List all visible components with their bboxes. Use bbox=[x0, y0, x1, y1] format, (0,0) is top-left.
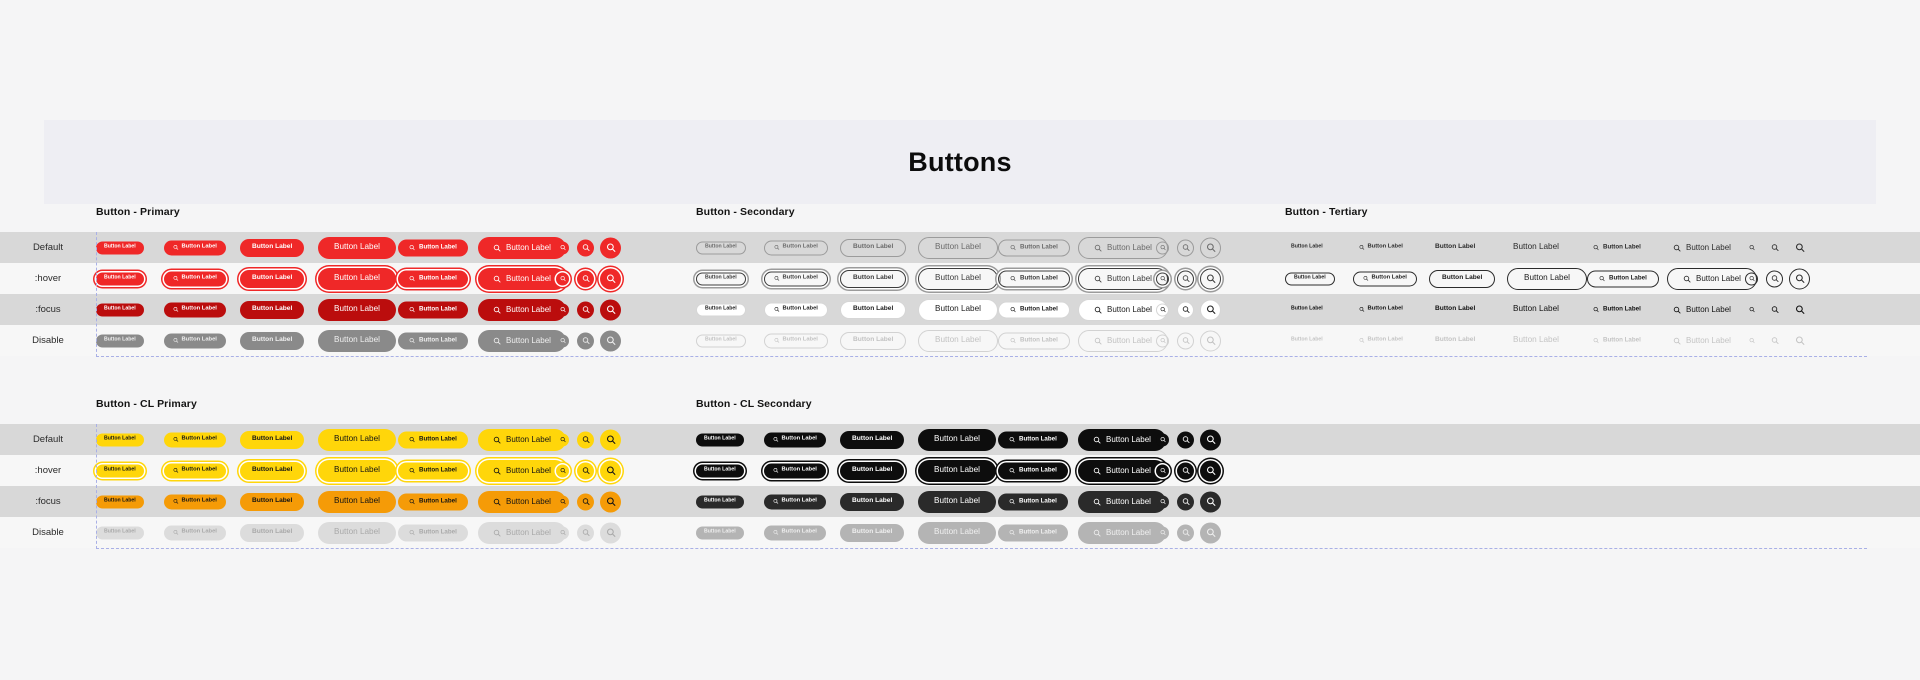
button-cl-primary-focus-label-button[interactable]: Button Label bbox=[240, 493, 304, 511]
button-tertiary-focus-icon-button[interactable] bbox=[1745, 303, 1758, 316]
button-cl-secondary-default-label-button[interactable]: Button Label bbox=[840, 431, 904, 449]
button-tertiary-focus-icon-label-button[interactable]: Button Label bbox=[1667, 299, 1737, 321]
button-tertiary-hover-icon-label-button[interactable]: Button Label bbox=[1353, 271, 1417, 286]
button-cl-primary-hover-icon-button[interactable] bbox=[600, 460, 621, 481]
button-tertiary-disable-label-button[interactable]: Button Label bbox=[1285, 334, 1329, 347]
button-label: Button Label bbox=[334, 497, 380, 505]
search-icon bbox=[409, 245, 415, 251]
search-icon bbox=[493, 244, 501, 252]
section-group-top: Button - PrimaryButton - SecondaryButton… bbox=[0, 206, 1920, 356]
button-primary-disable-icon-label-button[interactable]: Button Label bbox=[398, 332, 468, 349]
button-label: Button Label bbox=[704, 437, 736, 442]
button-primary-default-label-button[interactable]: Button Label bbox=[318, 237, 396, 259]
button-secondary-hover-icon-button[interactable] bbox=[1156, 272, 1169, 285]
button-cl-primary-disable-label-button[interactable]: Button Label bbox=[96, 526, 144, 539]
search-icon bbox=[1093, 529, 1101, 537]
button-secondary-focus-icon-label-button[interactable]: Button Label bbox=[764, 302, 828, 317]
button-tertiary-focus-icon-label-button[interactable]: Button Label bbox=[1587, 301, 1647, 318]
button-primary-focus-icon-button[interactable] bbox=[577, 301, 594, 318]
button-cl-secondary-hover-label-button[interactable]: Button Label bbox=[918, 460, 996, 482]
button-primary-default-label-button[interactable]: Button Label bbox=[96, 241, 144, 254]
button-secondary-hover-icon-button[interactable] bbox=[1200, 268, 1221, 289]
button-secondary-hover-icon-label-button[interactable]: Button Label bbox=[998, 270, 1070, 287]
button-label: Button Label bbox=[1291, 338, 1323, 343]
button-cl-primary-disable-icon-button[interactable] bbox=[577, 524, 594, 541]
search-icon bbox=[560, 307, 566, 313]
button-tertiary-default-label-button[interactable]: Button Label bbox=[1429, 239, 1481, 257]
button-cl-primary-focus-label-button[interactable]: Button Label bbox=[96, 495, 144, 508]
button-label: Button Label bbox=[704, 530, 736, 535]
button-cl-secondary-focus-icon-label-button[interactable]: Button Label bbox=[1078, 491, 1166, 513]
button-primary-hover-icon-button[interactable] bbox=[600, 268, 621, 289]
button-cl-primary-default-icon-button[interactable] bbox=[600, 429, 621, 450]
search-icon bbox=[493, 529, 501, 537]
search-icon bbox=[1206, 497, 1216, 507]
button-tertiary-focus-label-button[interactable]: Button Label bbox=[1429, 301, 1481, 319]
search-icon bbox=[1795, 274, 1805, 284]
search-icon bbox=[1094, 306, 1102, 314]
button-label: Button Label bbox=[782, 530, 817, 536]
button-secondary-hover-icon-label-button[interactable]: Button Label bbox=[764, 271, 828, 286]
button-cl-secondary-default-icon-label-button[interactable]: Button Label bbox=[1078, 429, 1166, 451]
button-label: Button Label bbox=[1106, 529, 1151, 537]
button-secondary-disable-icon-button[interactable] bbox=[1177, 332, 1194, 349]
button-tertiary-hover-icon-button[interactable] bbox=[1745, 272, 1758, 285]
search-icon bbox=[1795, 243, 1805, 253]
button-cl-primary-hover-icon-label-button[interactable]: Button Label bbox=[478, 460, 566, 482]
button-cl-secondary-disable-label-button[interactable]: Button Label bbox=[840, 524, 904, 542]
button-label: Button Label bbox=[182, 530, 217, 536]
button-tertiary-disable-icon-button[interactable] bbox=[1766, 332, 1783, 349]
button-secondary-default-label-button[interactable]: Button Label bbox=[840, 239, 906, 257]
button-secondary-disable-icon-button[interactable] bbox=[1200, 330, 1221, 351]
button-primary-hover-icon-button[interactable] bbox=[577, 270, 594, 287]
button-label: Button Label bbox=[419, 436, 457, 442]
button-cl-secondary-default-label-button[interactable]: Button Label bbox=[696, 433, 744, 446]
search-icon bbox=[1593, 338, 1599, 344]
search-icon bbox=[173, 245, 179, 251]
search-icon bbox=[1009, 499, 1015, 505]
button-tertiary-disable-icon-button[interactable] bbox=[1789, 330, 1810, 351]
button-label: Button Label bbox=[1513, 305, 1559, 313]
page-title: Buttons bbox=[908, 147, 1011, 178]
button-cl-primary-disable-icon-button[interactable] bbox=[600, 522, 621, 543]
button-label: Button Label bbox=[1435, 306, 1475, 313]
button-tertiary-focus-icon-button[interactable] bbox=[1789, 299, 1810, 320]
button-primary-focus-icon-label-button[interactable]: Button Label bbox=[398, 301, 468, 318]
button-tertiary-hover-label-button[interactable]: Button Label bbox=[1429, 270, 1495, 288]
button-label: Button Label bbox=[334, 305, 380, 313]
button-cl-secondary-hover-icon-label-button[interactable]: Button Label bbox=[1078, 460, 1166, 482]
button-primary-disable-label-button[interactable]: Button Label bbox=[96, 334, 144, 347]
button-cl-secondary-hover-icon-button[interactable] bbox=[1156, 464, 1169, 477]
button-label: Button Label bbox=[1107, 337, 1152, 345]
button-cl-primary-disable-label-button[interactable]: Button Label bbox=[318, 522, 396, 544]
search-icon bbox=[1771, 306, 1779, 314]
button-label: Button Label bbox=[783, 307, 818, 313]
button-cl-secondary-focus-label-button[interactable]: Button Label bbox=[840, 493, 904, 511]
button-label: Button Label bbox=[1686, 306, 1731, 314]
section-heading-button-secondary: Button - Secondary bbox=[696, 206, 795, 218]
button-label: Button Label bbox=[853, 337, 893, 344]
button-tertiary-focus-icon-label-button[interactable]: Button Label bbox=[1353, 302, 1409, 317]
state-row-hover: :hoverButton LabelButton LabelButton Lab… bbox=[0, 263, 1920, 294]
button-primary-disable-icon-label-button[interactable]: Button Label bbox=[478, 330, 566, 352]
section-group-bottom: Button - CL PrimaryButton - CL Secondary… bbox=[0, 398, 1920, 548]
button-tertiary-disable-icon-label-button[interactable]: Button Label bbox=[1667, 330, 1737, 352]
button-label: Button Label bbox=[1603, 244, 1641, 250]
button-cl-secondary-focus-icon-button[interactable] bbox=[1200, 491, 1221, 512]
button-cl-primary-default-icon-button[interactable] bbox=[577, 431, 594, 448]
button-cl-primary-focus-icon-button[interactable] bbox=[577, 493, 594, 510]
button-cl-secondary-focus-icon-button[interactable] bbox=[1177, 493, 1194, 510]
state-row-label: Default bbox=[0, 424, 96, 455]
search-icon bbox=[409, 499, 415, 505]
button-cl-primary-hover-label-button[interactable]: Button Label bbox=[96, 464, 144, 477]
search-icon bbox=[409, 468, 415, 474]
button-cl-secondary-focus-label-button[interactable]: Button Label bbox=[696, 495, 744, 508]
search-icon bbox=[1182, 337, 1190, 345]
search-icon bbox=[582, 244, 590, 252]
search-icon bbox=[493, 467, 501, 475]
button-label: Button Label bbox=[252, 244, 292, 251]
button-secondary-disable-icon-label-button[interactable]: Button Label bbox=[998, 332, 1070, 349]
button-tertiary-focus-label-button[interactable]: Button Label bbox=[1507, 299, 1565, 321]
button-tertiary-disable-label-button[interactable]: Button Label bbox=[1507, 330, 1565, 352]
search-icon bbox=[1673, 337, 1681, 345]
button-label: Button Label bbox=[1020, 244, 1058, 250]
button-cl-primary-hover-label-button[interactable]: Button Label bbox=[318, 460, 396, 482]
button-label: Button Label bbox=[1291, 307, 1323, 312]
button-label: Button Label bbox=[1106, 467, 1151, 475]
button-cl-secondary-hover-label-button[interactable]: Button Label bbox=[696, 464, 744, 477]
button-secondary-default-icon-button[interactable] bbox=[1177, 239, 1194, 256]
button-primary-focus-icon-button[interactable] bbox=[556, 303, 569, 316]
button-cl-primary-hover-icon-button[interactable] bbox=[577, 462, 594, 479]
button-tertiary-default-icon-button[interactable] bbox=[1745, 241, 1758, 254]
button-primary-focus-label-button[interactable]: Button Label bbox=[96, 303, 144, 316]
button-cl-primary-hover-icon-label-button[interactable]: Button Label bbox=[164, 463, 226, 478]
button-primary-focus-icon-button[interactable] bbox=[600, 299, 621, 320]
button-cl-primary-focus-icon-label-button[interactable]: Button Label bbox=[164, 494, 226, 509]
button-cl-secondary-disable-icon-button[interactable] bbox=[1200, 522, 1221, 543]
search-icon bbox=[1599, 276, 1605, 282]
button-tertiary-default-icon-button[interactable] bbox=[1766, 239, 1783, 256]
button-label: Button Label bbox=[419, 306, 457, 312]
button-primary-hover-label-button[interactable]: Button Label bbox=[318, 268, 396, 290]
button-cl-secondary-focus-icon-label-button[interactable]: Button Label bbox=[998, 493, 1068, 510]
search-icon bbox=[1749, 307, 1755, 313]
button-tertiary-hover-icon-label-button[interactable]: Button Label bbox=[1587, 270, 1659, 287]
state-row-label: :hover bbox=[0, 455, 96, 486]
search-icon bbox=[1771, 244, 1779, 252]
button-cl-primary-disable-label-button[interactable]: Button Label bbox=[240, 524, 304, 542]
button-label: Button Label bbox=[419, 275, 457, 281]
button-secondary-disable-icon-label-button[interactable]: Button Label bbox=[1078, 330, 1168, 352]
button-secondary-focus-label-button[interactable]: Button Label bbox=[696, 303, 746, 316]
search-icon bbox=[560, 276, 566, 282]
button-label: Button Label bbox=[506, 436, 551, 444]
button-cl-secondary-disable-icon-button[interactable] bbox=[1177, 524, 1194, 541]
button-primary-default-icon-button[interactable] bbox=[600, 237, 621, 258]
search-icon bbox=[1182, 436, 1190, 444]
search-icon bbox=[606, 466, 616, 476]
button-secondary-focus-icon-button[interactable] bbox=[1177, 301, 1194, 318]
button-label: Button Label bbox=[252, 436, 292, 443]
button-tertiary-hover-label-button[interactable]: Button Label bbox=[1507, 268, 1587, 290]
button-cl-secondary-disable-label-button[interactable]: Button Label bbox=[696, 526, 744, 539]
button-tertiary-disable-icon-button[interactable] bbox=[1745, 334, 1758, 347]
button-label: Button Label bbox=[252, 275, 292, 282]
button-cl-secondary-default-icon-label-button[interactable]: Button Label bbox=[764, 432, 826, 447]
button-primary-disable-icon-button[interactable] bbox=[600, 330, 621, 351]
button-secondary-focus-icon-button[interactable] bbox=[1200, 299, 1221, 320]
search-icon bbox=[1182, 244, 1190, 252]
button-label: Button Label bbox=[1686, 244, 1731, 252]
button-primary-default-icon-button[interactable] bbox=[556, 241, 569, 254]
button-primary-default-label-button[interactable]: Button Label bbox=[240, 239, 304, 257]
button-secondary-focus-icon-label-button[interactable]: Button Label bbox=[1078, 299, 1168, 321]
button-tertiary-hover-label-button[interactable]: Button Label bbox=[1285, 272, 1335, 285]
search-icon bbox=[1206, 305, 1216, 315]
button-primary-hover-icon-button[interactable] bbox=[556, 272, 569, 285]
button-label: Button Label bbox=[506, 467, 551, 475]
button-cl-primary-default-icon-label-button[interactable]: Button Label bbox=[398, 431, 468, 448]
button-primary-default-icon-label-button[interactable]: Button Label bbox=[164, 240, 226, 255]
button-cl-secondary-default-icon-button[interactable] bbox=[1177, 431, 1194, 448]
button-cl-primary-default-label-button[interactable]: Button Label bbox=[96, 433, 144, 446]
button-label: Button Label bbox=[252, 498, 292, 505]
button-primary-hover-label-button[interactable]: Button Label bbox=[96, 272, 144, 285]
button-secondary-default-label-button[interactable]: Button Label bbox=[696, 241, 746, 254]
search-icon bbox=[493, 306, 501, 314]
search-icon bbox=[173, 276, 179, 282]
button-label: Button Label bbox=[782, 499, 817, 505]
search-icon bbox=[606, 528, 616, 538]
search-icon bbox=[560, 499, 566, 505]
button-tertiary-default-icon-label-button[interactable]: Button Label bbox=[1587, 239, 1647, 256]
search-icon bbox=[774, 245, 780, 251]
button-secondary-disable-label-button[interactable]: Button Label bbox=[840, 332, 906, 350]
search-icon bbox=[582, 498, 590, 506]
button-cl-primary-focus-icon-button[interactable] bbox=[600, 491, 621, 512]
search-icon bbox=[560, 245, 566, 251]
button-tertiary-disable-icon-label-button[interactable]: Button Label bbox=[1353, 333, 1409, 348]
button-tertiary-default-label-button[interactable]: Button Label bbox=[1285, 241, 1329, 254]
button-primary-hover-label-button[interactable]: Button Label bbox=[240, 270, 304, 288]
button-secondary-focus-label-button[interactable]: Button Label bbox=[840, 301, 906, 319]
button-tertiary-focus-label-button[interactable]: Button Label bbox=[1285, 303, 1329, 316]
button-primary-focus-icon-label-button[interactable]: Button Label bbox=[478, 299, 566, 321]
button-label: Button Label bbox=[182, 437, 217, 443]
button-secondary-default-icon-button[interactable] bbox=[1200, 237, 1221, 258]
state-row-label: :focus bbox=[0, 486, 96, 517]
button-primary-hover-icon-label-button[interactable]: Button Label bbox=[478, 268, 566, 290]
button-secondary-hover-icon-label-button[interactable]: Button Label bbox=[1078, 268, 1168, 290]
button-primary-focus-label-button[interactable]: Button Label bbox=[240, 301, 304, 319]
search-icon bbox=[173, 307, 179, 313]
search-icon bbox=[582, 529, 590, 537]
button-cl-secondary-focus-icon-button[interactable] bbox=[1156, 495, 1169, 508]
button-secondary-focus-icon-button[interactable] bbox=[1156, 303, 1169, 316]
button-tertiary-hover-icon-button[interactable] bbox=[1766, 270, 1783, 287]
button-secondary-default-icon-label-button[interactable]: Button Label bbox=[764, 240, 828, 255]
button-label: Button Label bbox=[506, 244, 551, 252]
button-cl-secondary-hover-icon-button[interactable] bbox=[1200, 460, 1221, 481]
search-icon bbox=[1093, 467, 1101, 475]
button-primary-hover-icon-label-button[interactable]: Button Label bbox=[398, 270, 468, 287]
button-primary-disable-label-button[interactable]: Button Label bbox=[318, 330, 396, 352]
button-label: Button Label bbox=[935, 243, 981, 251]
button-secondary-hover-icon-button[interactable] bbox=[1177, 270, 1194, 287]
search-icon bbox=[774, 338, 780, 344]
button-secondary-disable-icon-label-button[interactable]: Button Label bbox=[764, 333, 828, 348]
button-cl-secondary-default-label-button[interactable]: Button Label bbox=[918, 429, 996, 451]
button-tertiary-hover-icon-button[interactable] bbox=[1789, 268, 1810, 289]
button-label: Button Label bbox=[1686, 337, 1731, 345]
button-cl-secondary-hover-icon-button[interactable] bbox=[1177, 462, 1194, 479]
button-cl-primary-disable-icon-label-button[interactable]: Button Label bbox=[478, 522, 566, 544]
button-primary-focus-label-button[interactable]: Button Label bbox=[318, 299, 396, 321]
button-primary-disable-icon-button[interactable] bbox=[556, 334, 569, 347]
search-icon bbox=[1160, 468, 1166, 474]
button-cl-primary-default-label-button[interactable]: Button Label bbox=[240, 431, 304, 449]
search-icon bbox=[493, 498, 501, 506]
button-cl-secondary-hover-label-button[interactable]: Button Label bbox=[840, 462, 904, 480]
search-icon bbox=[1160, 245, 1166, 251]
button-secondary-default-icon-button[interactable] bbox=[1156, 241, 1169, 254]
button-cl-primary-focus-icon-label-button[interactable]: Button Label bbox=[398, 493, 468, 510]
search-icon bbox=[606, 336, 616, 346]
button-label: Button Label bbox=[334, 466, 380, 474]
button-cl-primary-focus-label-button[interactable]: Button Label bbox=[318, 491, 396, 513]
search-icon bbox=[560, 468, 566, 474]
search-icon bbox=[409, 437, 415, 443]
button-cl-secondary-disable-icon-label-button[interactable]: Button Label bbox=[1078, 522, 1166, 544]
button-cl-primary-disable-icon-button[interactable] bbox=[556, 526, 569, 539]
button-tertiary-hover-icon-label-button[interactable]: Button Label bbox=[1667, 268, 1757, 290]
search-icon bbox=[774, 276, 780, 282]
button-cl-secondary-disable-icon-label-button[interactable]: Button Label bbox=[998, 524, 1068, 541]
button-tertiary-default-icon-label-button[interactable]: Button Label bbox=[1353, 240, 1409, 255]
search-icon bbox=[1160, 276, 1166, 282]
button-label: Button Label bbox=[334, 274, 380, 282]
button-tertiary-default-icon-label-button[interactable]: Button Label bbox=[1667, 237, 1737, 259]
button-secondary-hover-label-button[interactable]: Button Label bbox=[840, 270, 906, 288]
button-cl-secondary-default-icon-button[interactable] bbox=[1156, 433, 1169, 446]
button-secondary-default-icon-label-button[interactable]: Button Label bbox=[1078, 237, 1168, 259]
button-tertiary-disable-icon-label-button[interactable]: Button Label bbox=[1587, 332, 1647, 349]
button-cl-secondary-disable-icon-button[interactable] bbox=[1156, 526, 1169, 539]
button-label: Button Label bbox=[104, 307, 136, 312]
search-icon bbox=[606, 243, 616, 253]
button-label: Button Label bbox=[934, 528, 980, 536]
button-tertiary-default-icon-button[interactable] bbox=[1789, 237, 1810, 258]
button-label: Button Label bbox=[419, 467, 457, 473]
button-cl-primary-focus-icon-button[interactable] bbox=[556, 495, 569, 508]
search-icon bbox=[1010, 307, 1016, 313]
button-cl-primary-disable-icon-label-button[interactable]: Button Label bbox=[164, 525, 226, 540]
button-tertiary-default-label-button[interactable]: Button Label bbox=[1507, 237, 1565, 259]
button-secondary-focus-label-button[interactable]: Button Label bbox=[918, 299, 998, 321]
section-headings-bottom: Button - CL PrimaryButton - CL Secondary bbox=[0, 398, 1920, 424]
search-icon bbox=[1010, 338, 1016, 344]
search-icon bbox=[409, 530, 415, 536]
button-label: Button Label bbox=[705, 307, 737, 312]
search-icon bbox=[1683, 275, 1691, 283]
button-cl-secondary-focus-icon-label-button[interactable]: Button Label bbox=[764, 494, 826, 509]
button-primary-hover-icon-label-button[interactable]: Button Label bbox=[164, 271, 226, 286]
button-label: Button Label bbox=[334, 528, 380, 536]
search-icon bbox=[1160, 307, 1166, 313]
button-label: Button Label bbox=[104, 530, 136, 535]
button-secondary-disable-label-button[interactable]: Button Label bbox=[918, 330, 998, 352]
button-tertiary-disable-label-button[interactable]: Button Label bbox=[1429, 332, 1481, 350]
search-icon bbox=[1182, 498, 1190, 506]
search-icon bbox=[173, 468, 179, 474]
search-icon bbox=[1093, 498, 1101, 506]
button-cl-secondary-focus-label-button[interactable]: Button Label bbox=[918, 491, 996, 513]
button-secondary-hover-label-button[interactable]: Button Label bbox=[696, 272, 746, 285]
button-secondary-disable-icon-button[interactable] bbox=[1156, 334, 1169, 347]
button-label: Button Label bbox=[1372, 276, 1407, 282]
search-icon bbox=[1363, 276, 1369, 282]
button-secondary-hover-label-button[interactable]: Button Label bbox=[918, 268, 998, 290]
search-icon bbox=[582, 306, 590, 314]
button-secondary-disable-label-button[interactable]: Button Label bbox=[696, 334, 746, 347]
state-rows-top: DefaultButton LabelButton LabelButton La… bbox=[0, 232, 1920, 356]
button-primary-disable-icon-button[interactable] bbox=[577, 332, 594, 349]
button-cl-primary-default-icon-label-button[interactable]: Button Label bbox=[478, 429, 566, 451]
button-label: Button Label bbox=[1020, 275, 1058, 281]
button-cl-secondary-disable-label-button[interactable]: Button Label bbox=[918, 522, 996, 544]
button-cl-secondary-default-icon-label-button[interactable]: Button Label bbox=[998, 431, 1068, 448]
search-icon bbox=[560, 437, 566, 443]
button-tertiary-focus-icon-button[interactable] bbox=[1766, 301, 1783, 318]
button-cl-secondary-disable-icon-label-button[interactable]: Button Label bbox=[764, 525, 826, 540]
button-cl-primary-default-icon-label-button[interactable]: Button Label bbox=[164, 432, 226, 447]
button-secondary-default-label-button[interactable]: Button Label bbox=[918, 237, 998, 259]
state-row-disable: DisableButton LabelButton LabelButton La… bbox=[0, 517, 1920, 548]
button-cl-primary-hover-icon-button[interactable] bbox=[556, 464, 569, 477]
button-primary-focus-icon-label-button[interactable]: Button Label bbox=[164, 302, 226, 317]
button-cl-secondary-hover-icon-label-button[interactable]: Button Label bbox=[764, 463, 826, 478]
search-icon bbox=[1673, 244, 1681, 252]
button-primary-default-icon-label-button[interactable]: Button Label bbox=[398, 239, 468, 256]
button-cl-primary-focus-icon-label-button[interactable]: Button Label bbox=[478, 491, 566, 513]
button-primary-disable-label-button[interactable]: Button Label bbox=[240, 332, 304, 350]
search-icon bbox=[1795, 336, 1805, 346]
search-icon bbox=[1093, 436, 1101, 444]
button-cl-primary-disable-icon-label-button[interactable]: Button Label bbox=[398, 524, 468, 541]
button-cl-primary-default-label-button[interactable]: Button Label bbox=[318, 429, 396, 451]
search-icon bbox=[1010, 245, 1016, 251]
button-primary-default-icon-button[interactable] bbox=[577, 239, 594, 256]
button-cl-secondary-default-icon-button[interactable] bbox=[1200, 429, 1221, 450]
button-secondary-focus-icon-label-button[interactable]: Button Label bbox=[998, 301, 1070, 318]
button-primary-default-icon-label-button[interactable]: Button Label bbox=[478, 237, 566, 259]
button-cl-secondary-hover-icon-label-button[interactable]: Button Label bbox=[998, 462, 1068, 479]
button-secondary-default-icon-label-button[interactable]: Button Label bbox=[998, 239, 1070, 256]
button-cl-primary-default-icon-button[interactable] bbox=[556, 433, 569, 446]
button-label: Button Label bbox=[182, 468, 217, 474]
button-cl-primary-hover-label-button[interactable]: Button Label bbox=[240, 462, 304, 480]
button-label: Button Label bbox=[104, 468, 136, 473]
button-primary-disable-icon-label-button[interactable]: Button Label bbox=[164, 333, 226, 348]
button-label: Button Label bbox=[782, 468, 817, 474]
search-icon bbox=[1010, 276, 1016, 282]
button-cl-primary-hover-icon-label-button[interactable]: Button Label bbox=[398, 462, 468, 479]
